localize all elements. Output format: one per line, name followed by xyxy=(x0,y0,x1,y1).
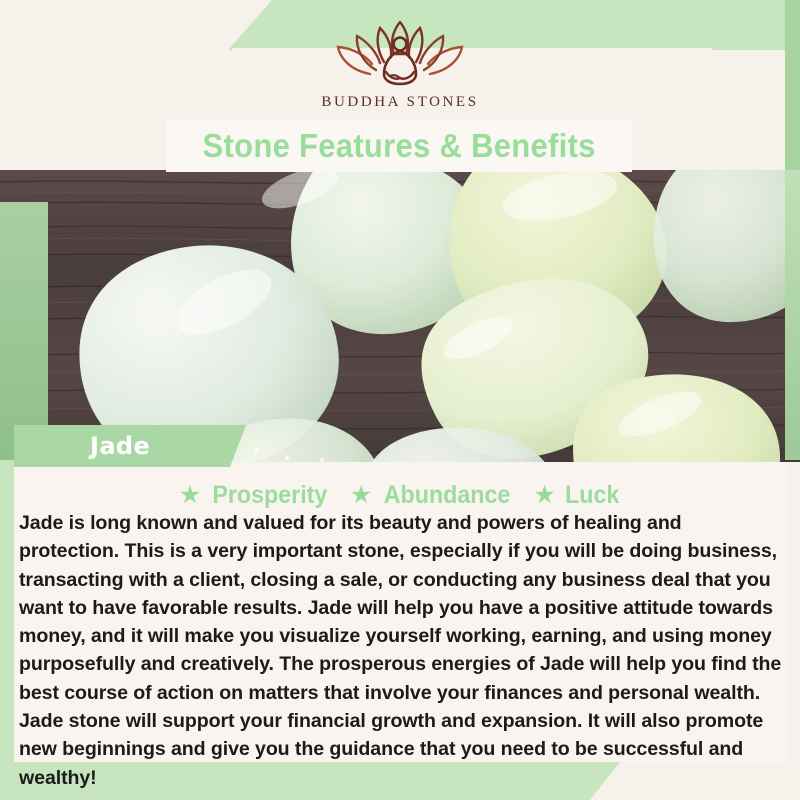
stone-name-label: Jade xyxy=(90,432,150,460)
star-icon: ★ xyxy=(533,483,555,508)
keyword-label: Luck xyxy=(565,481,619,510)
keyword-item-prosperity: ★ Prosperity xyxy=(179,481,332,510)
stone-description: Jade is long known and valued for its be… xyxy=(14,509,786,762)
decoration-left-strip-over-photo xyxy=(0,202,48,460)
keyword-item-abundance: ★ Abundance xyxy=(350,481,516,510)
stone-photo xyxy=(0,170,800,462)
keyword-item-luck: ★ Luck xyxy=(533,481,621,510)
keyword-list: ★ Prosperity ★ Abundance ★ Luck xyxy=(14,479,786,511)
lotus-meditation-icon xyxy=(332,14,468,90)
keyword-label: Abundance xyxy=(384,481,511,510)
page-title-banner: Stone Features & Benefits xyxy=(166,120,632,172)
star-icon: ★ xyxy=(350,483,372,508)
poster-root: BUDDHA STONES Stone Features & Benefits xyxy=(0,0,800,800)
brand-header: BUDDHA STONES xyxy=(0,0,800,125)
brand-logo: BUDDHA STONES xyxy=(321,14,478,111)
star-icon: ★ xyxy=(179,483,201,508)
decoration-right-strip-over-photo xyxy=(785,170,800,460)
keyword-label: Prosperity xyxy=(213,481,328,510)
brand-name: BUDDHA STONES xyxy=(321,94,478,111)
page-title: Stone Features & Benefits xyxy=(202,127,595,165)
stone-name-band: Jade xyxy=(14,425,246,467)
